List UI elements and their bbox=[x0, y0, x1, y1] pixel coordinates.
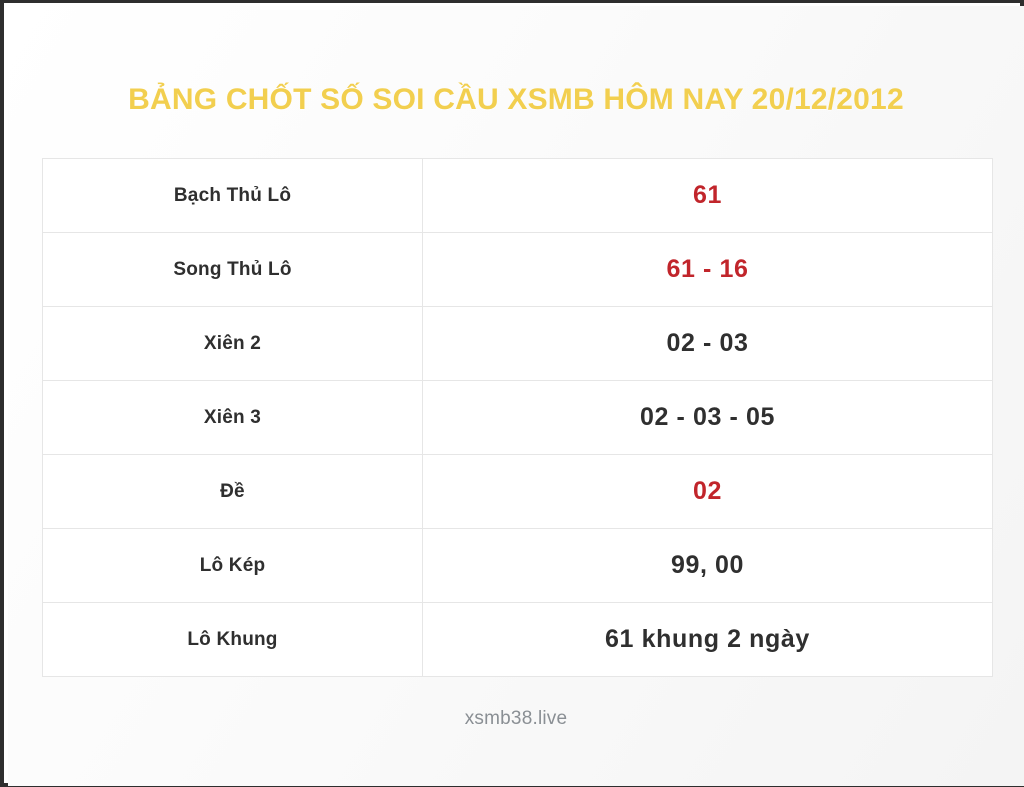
page-title: BẢNG CHỐT SỐ SOI CẦU XSMB HÔM NAY 20/12/… bbox=[8, 83, 1024, 117]
row-value: 99, 00 bbox=[423, 529, 993, 603]
row-value: 02 - 03 bbox=[423, 307, 993, 381]
row-label: Đề bbox=[43, 455, 423, 529]
row-value: 61 khung 2 ngày bbox=[423, 603, 993, 677]
table-body: Bạch Thủ Lô 61 Song Thủ Lô 61 - 16 Xiên … bbox=[43, 159, 993, 677]
table-row: Xiên 3 02 - 03 - 05 bbox=[43, 381, 993, 455]
lottery-prediction-table: Bạch Thủ Lô 61 Song Thủ Lô 61 - 16 Xiên … bbox=[42, 158, 993, 677]
row-label: Song Thủ Lô bbox=[43, 233, 423, 307]
row-label: Xiên 3 bbox=[43, 381, 423, 455]
row-value: 61 - 16 bbox=[423, 233, 993, 307]
row-label: Bạch Thủ Lô bbox=[43, 159, 423, 233]
row-label: Lô Kép bbox=[43, 529, 423, 603]
table-row: Song Thủ Lô 61 - 16 bbox=[43, 233, 993, 307]
table-row: Lô Khung 61 khung 2 ngày bbox=[43, 603, 993, 677]
row-label: Lô Khung bbox=[43, 603, 423, 677]
table-row: Xiên 2 02 - 03 bbox=[43, 307, 993, 381]
table-row: Bạch Thủ Lô 61 bbox=[43, 159, 993, 233]
table-row: Lô Kép 99, 00 bbox=[43, 529, 993, 603]
row-value: 61 bbox=[423, 159, 993, 233]
table-row: Đề 02 bbox=[43, 455, 993, 529]
image-frame: BẢNG CHỐT SỐ SOI CẦU XSMB HÔM NAY 20/12/… bbox=[0, 0, 1024, 787]
lottery-prediction-table-wrapper: Bạch Thủ Lô 61 Song Thủ Lô 61 - 16 Xiên … bbox=[42, 158, 990, 677]
site-watermark: xsmb38.live bbox=[8, 708, 1024, 730]
row-value: 02 - 03 - 05 bbox=[423, 381, 993, 455]
page-background: BẢNG CHỐT SỐ SOI CẦU XSMB HÔM NAY 20/12/… bbox=[8, 6, 1024, 786]
row-value: 02 bbox=[423, 455, 993, 529]
row-label: Xiên 2 bbox=[43, 307, 423, 381]
